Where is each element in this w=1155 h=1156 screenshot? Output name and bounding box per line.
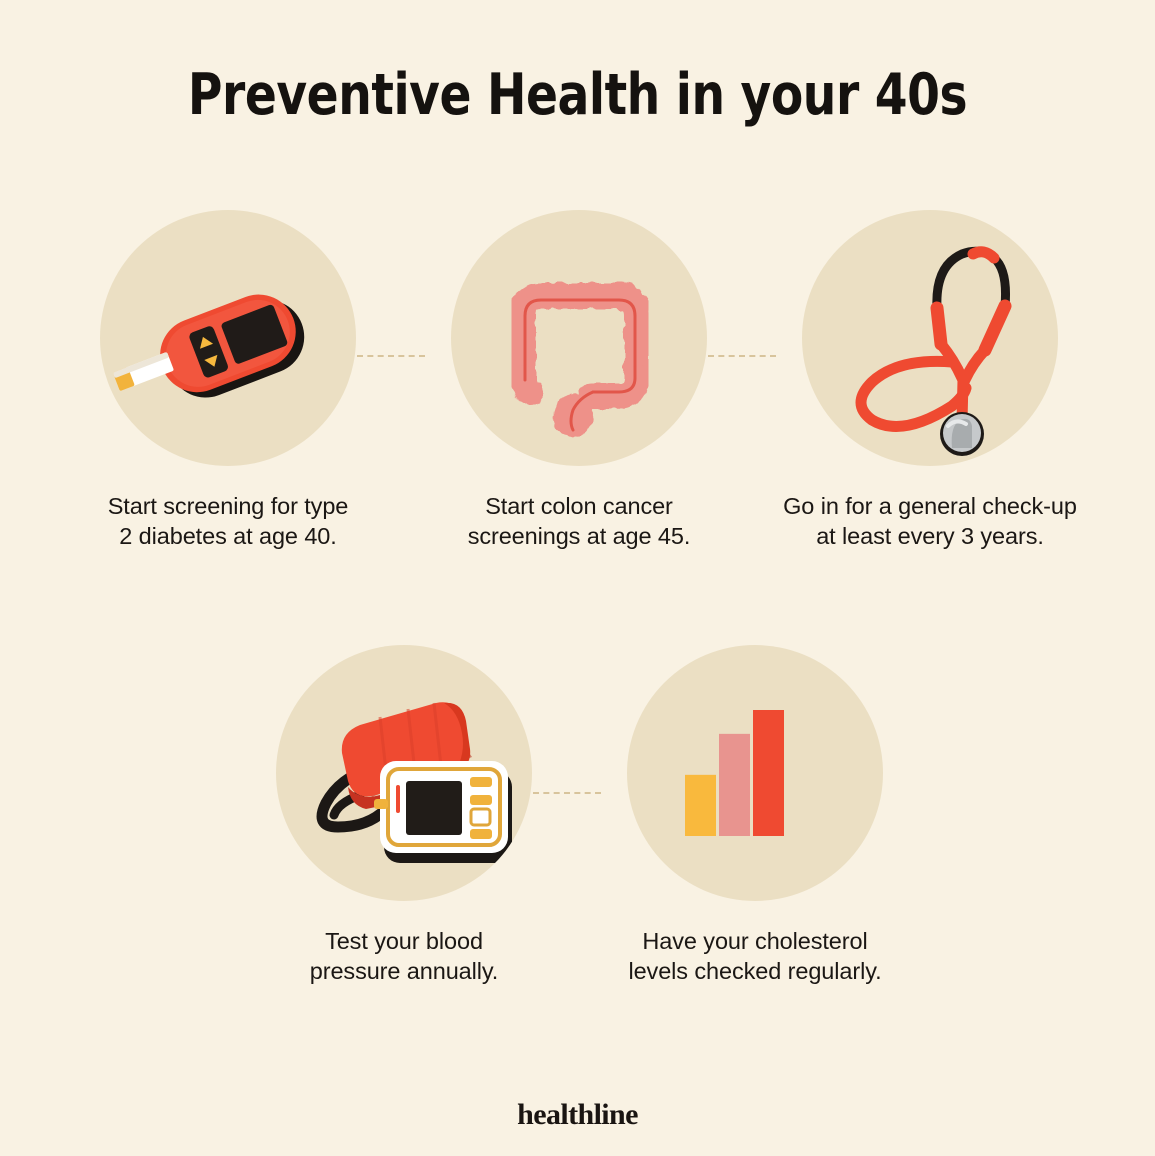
caption-line: at least every 3 years. (775, 522, 1085, 552)
caption-line: screenings at age 45. (424, 522, 734, 552)
bar-1 (685, 775, 716, 836)
caption-line: Go in for a general check-up (775, 492, 1085, 522)
caption-checkup: Go in for a general check-up at least ev… (775, 492, 1085, 552)
stethoscope-icon (802, 210, 1058, 466)
page-title: Preventive Health in your 40s (46, 62, 1109, 128)
item-diabetes: Start screening for type 2 diabetes at a… (73, 210, 383, 552)
blood-pressure-monitor-icon (276, 645, 532, 901)
item-colon: Start colon cancer screenings at age 45. (424, 210, 734, 552)
caption-line: pressure annually. (249, 957, 559, 987)
caption-diabetes: Start screening for type 2 diabetes at a… (73, 492, 383, 552)
caption-line: Have your cholesterol (600, 927, 910, 957)
icon-circle-diabetes (100, 210, 356, 466)
glucose-meter-icon (100, 210, 356, 466)
caption-line: 2 diabetes at age 40. (73, 522, 383, 552)
caption-line: Test your blood (249, 927, 559, 957)
caption-cholesterol: Have your cholesterol levels checked reg… (600, 927, 910, 987)
bar-chart-icon (627, 645, 883, 901)
item-cholesterol: Have your cholesterol levels checked reg… (600, 645, 910, 987)
colon-icon (451, 210, 707, 466)
caption-colon: Start colon cancer screenings at age 45. (424, 492, 734, 552)
icon-circle-colon (451, 210, 707, 466)
bar-2 (719, 734, 750, 836)
infographic-canvas: Preventive Health in your 40s (0, 0, 1155, 1156)
caption-line: levels checked regularly. (600, 957, 910, 987)
icon-circle-blood-pressure (276, 645, 532, 901)
caption-line: Start colon cancer (424, 492, 734, 522)
icon-circle-cholesterol (627, 645, 883, 901)
healthline-logo: healthline (0, 1098, 1155, 1132)
bar-3 (753, 710, 784, 836)
item-blood-pressure: Test your blood pressure annually. (249, 645, 559, 987)
item-checkup: Go in for a general check-up at least ev… (775, 210, 1085, 552)
caption-line: Start screening for type (73, 492, 383, 522)
icon-circle-checkup (802, 210, 1058, 466)
caption-blood-pressure: Test your blood pressure annually. (249, 927, 559, 987)
